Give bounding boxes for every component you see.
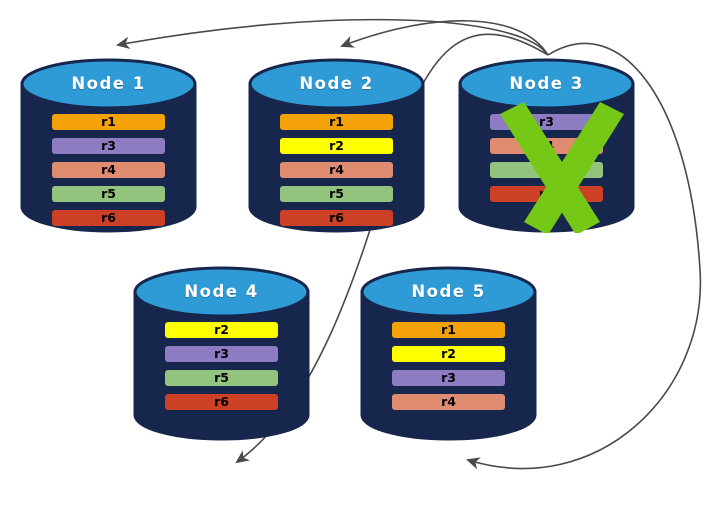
replica-bar[interactable]: r3 [490,114,603,130]
arrow-node3-to-node2 [342,21,548,55]
arrow-node3-to-node1 [118,20,548,55]
replica-bar[interactable]: r3 [165,346,278,362]
replica-bar[interactable]: r3 [52,138,165,154]
node-content: Node 1r1r3r4r5r6 [20,58,197,233]
replica-bar[interactable]: r3 [392,370,505,386]
replica-bar[interactable]: r4 [280,162,393,178]
replica-bar[interactable]: r5 [52,186,165,202]
replica-bar[interactable]: r5 [165,370,278,386]
replica-bar[interactable]: r6 [165,394,278,410]
node-4[interactable]: Node 4r2r3r5r6 [133,266,310,441]
node-title: Node 5 [360,282,537,301]
node-content: Node 4r2r3r5r6 [133,266,310,441]
node-content: Node 5r1r2r3r4 [360,266,537,441]
node-5[interactable]: Node 5r1r2r3r4 [360,266,537,441]
node-3[interactable]: Node 3r3r4r5r6 [458,58,635,233]
replica-bar[interactable]: r2 [165,322,278,338]
node-content: Node 3r3r4r5r6 [458,58,635,233]
replica-bar[interactable]: r2 [392,346,505,362]
node-title: Node 1 [20,74,197,93]
replica-bar[interactable]: r6 [280,210,393,226]
replica-bar[interactable]: r2 [280,138,393,154]
replica-bar[interactable]: r5 [490,162,603,178]
diagram-canvas: Node 1r1r3r4r5r6Node 2r1r2r4r5r6Node 3r3… [0,0,708,508]
replica-bar[interactable]: r6 [490,186,603,202]
node-2[interactable]: Node 2r1r2r4r5r6 [248,58,425,233]
replica-bar[interactable]: r1 [392,322,505,338]
node-title: Node 2 [248,74,425,93]
replica-bar[interactable]: r1 [52,114,165,130]
replica-bar[interactable]: r4 [52,162,165,178]
node-content: Node 2r1r2r4r5r6 [248,58,425,233]
node-title: Node 3 [458,74,635,93]
replica-bar[interactable]: r4 [490,138,603,154]
replica-bar[interactable]: r5 [280,186,393,202]
replica-bar[interactable]: r6 [52,210,165,226]
node-title: Node 4 [133,282,310,301]
replica-bar[interactable]: r1 [280,114,393,130]
replica-bar[interactable]: r4 [392,394,505,410]
node-1[interactable]: Node 1r1r3r4r5r6 [20,58,197,233]
